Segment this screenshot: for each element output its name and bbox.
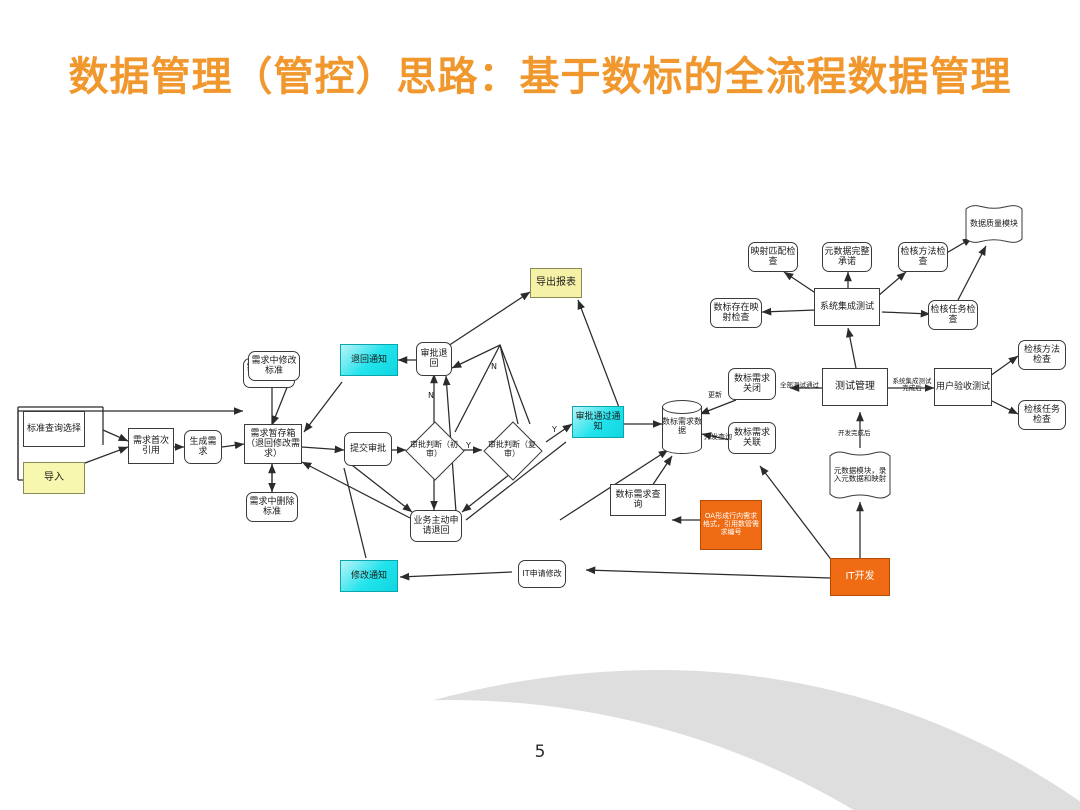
node-mapping-match-check[interactable]: 映射匹配检查 [748,242,798,272]
node-delete-standard[interactable]: 需求中删除标准 [246,492,298,522]
node-label: 检核方法检查 [900,247,946,267]
flowchart-edges [0,0,1080,810]
node-label: 需求中修改标准 [250,356,298,376]
node-label: 生成需求 [186,437,220,457]
node-label: 数标需求数据 [662,418,702,436]
node-data-standard-requirement-db[interactable]: 数标需求数据 [662,400,702,454]
node-metadata-complete-promise[interactable]: 元数据完整承诺 [822,242,872,272]
node-label: 业务主动申请退回 [412,516,460,536]
node-label-wrap: 数据质量模块 [962,204,1026,244]
node-export-report[interactable]: 导出报表 [530,268,582,298]
node-requirement-query[interactable]: 数标需求查询 [610,484,666,516]
node-label: 检核任务检查 [930,305,976,325]
node-user-acceptance-test[interactable]: 用户验收测试 [934,368,992,406]
node-label: 映射匹配检查 [750,247,796,267]
node-requirement-close[interactable]: 数标需求关闭 [728,368,776,400]
node-label-wrap: 元数据模块，录入元数据和映射 [826,450,894,500]
node-import[interactable]: 导入 [23,462,85,494]
node-label: 检核任务检查 [1020,405,1064,425]
slide-canvas: 数据管理（管控）思路：基于数标的全流程数据管理 [0,0,1080,810]
node-label: 导入 [44,472,64,483]
node-check-task-check-2[interactable]: 检核任务检查 [1018,400,1066,430]
node-requirement-staging[interactable]: 需求暂存箱（退回修改需求） [244,424,302,464]
node-label: 退回通知 [351,355,387,365]
node-label: 数标需求关闭 [730,374,774,394]
node-label: 测试管理 [835,381,875,392]
edge-label-n-first: N [428,392,434,400]
node-metadata-module[interactable]: 元数据模块，录入元数据和映射 [826,450,894,500]
node-test-management[interactable]: 测试管理 [822,368,888,406]
slide-title: 数据管理（管控）思路：基于数标的全流程数据管理 [0,44,1080,102]
node-system-integration-test[interactable]: 系统集成测试 [814,288,880,326]
node-it-development[interactable]: IT开发 [830,558,890,596]
node-approval-return[interactable]: 审批退回 [416,342,452,376]
node-modify-notification[interactable]: 修改通知 [340,560,398,592]
node-return-notification[interactable]: 退回通知 [340,344,398,376]
node-check-method-check-1[interactable]: 检核方法检查 [898,242,948,272]
node-label: 元数据完整承诺 [824,247,870,267]
node-first-reference[interactable]: 需求首次引用 [128,428,174,464]
edge-label-after-sys-integration: 系统集成测试完成后 [890,378,934,392]
edge-label-y-first: Y [466,442,471,450]
edge-label-y-second: Y [552,426,557,434]
node-label: 导出报表 [536,277,576,288]
node-label: 需求首次引用 [130,436,172,456]
node-label: 系统集成测试 [820,302,874,312]
node-it-request-modify[interactable]: IT申请修改 [518,560,566,588]
node-label-wrap: 审批判断（初审） [406,422,462,478]
node-approval-pass-notification[interactable]: 审批通过通知 [572,406,624,438]
node-label: 元数据模块，录入元数据和映射 [832,467,888,484]
node-label: 审批判断（复审） [484,441,540,459]
node-label: 审批退回 [418,349,450,369]
node-label: 数标需求关联 [730,428,774,448]
node-label: 数标存在映射检查 [712,303,760,323]
node-submit-approval[interactable]: 提交审批 [344,432,392,466]
node-label: 审批通过通知 [574,412,622,432]
node-label: IT开发 [845,571,874,582]
node-check-task-check-1[interactable]: 检核任务检查 [928,300,978,330]
node-label: IT申请修改 [522,570,561,579]
node-approval-decision-second[interactable]: 审批判断（复审） [484,422,540,478]
node-standard-query-select[interactable]: 标准查询选择 [23,411,85,447]
node-label: 标准查询选择 [27,424,81,434]
node-label: 修改通知 [351,571,387,581]
node-label: 提交审批 [350,444,386,454]
node-generate-requirement[interactable]: 生成需求 [184,430,222,464]
node-label: 需求中删除标准 [248,497,296,517]
node-data-quality-module[interactable]: 数据质量模块 [962,204,1026,244]
edge-label-n-second: N [491,363,497,371]
node-check-method-check-2[interactable]: 检核方法检查 [1018,340,1066,370]
flowchart-diagram: 标准查询选择 导入 需求首次引用 生成需求 需求中增加标准 需求中修改标准 需求… [0,0,1080,810]
node-oa-format[interactable]: OA形成行内需求格式，引用数管需求编号 [700,500,762,550]
edge-label-update: 更新 [708,392,722,399]
node-approval-decision-first[interactable]: 审批判断（初审） [406,422,462,478]
edge-label-after-dev-done: 开发完成后 [838,430,871,437]
node-business-request-return[interactable]: 业务主动申请退回 [410,510,462,542]
node-modify-standard[interactable]: 需求中修改标准 [248,351,300,381]
node-label-wrap: 数标需求数据 [662,400,702,454]
page-number: 5 [0,742,1080,762]
node-label: 检核方法检查 [1020,345,1064,365]
node-requirement-link[interactable]: 数标需求关联 [728,422,776,454]
node-label: 数标需求查询 [612,490,664,510]
node-label-wrap: 审批判断（复审） [484,422,540,478]
edge-label-all-tests-passed: 全部测试通过 [780,382,819,389]
node-label: 审批判断（初审） [406,441,462,459]
node-label: OA形成行内需求格式，引用数管需求编号 [702,513,760,536]
node-standard-exists-mapping-check[interactable]: 数标存在映射检查 [710,298,762,328]
node-label: 需求暂存箱（退回修改需求） [246,429,300,459]
node-label: 数据质量模块 [970,220,1018,229]
edge-label-dev-query: 开发查询 [704,434,732,441]
node-label: 用户验收测试 [936,382,990,392]
